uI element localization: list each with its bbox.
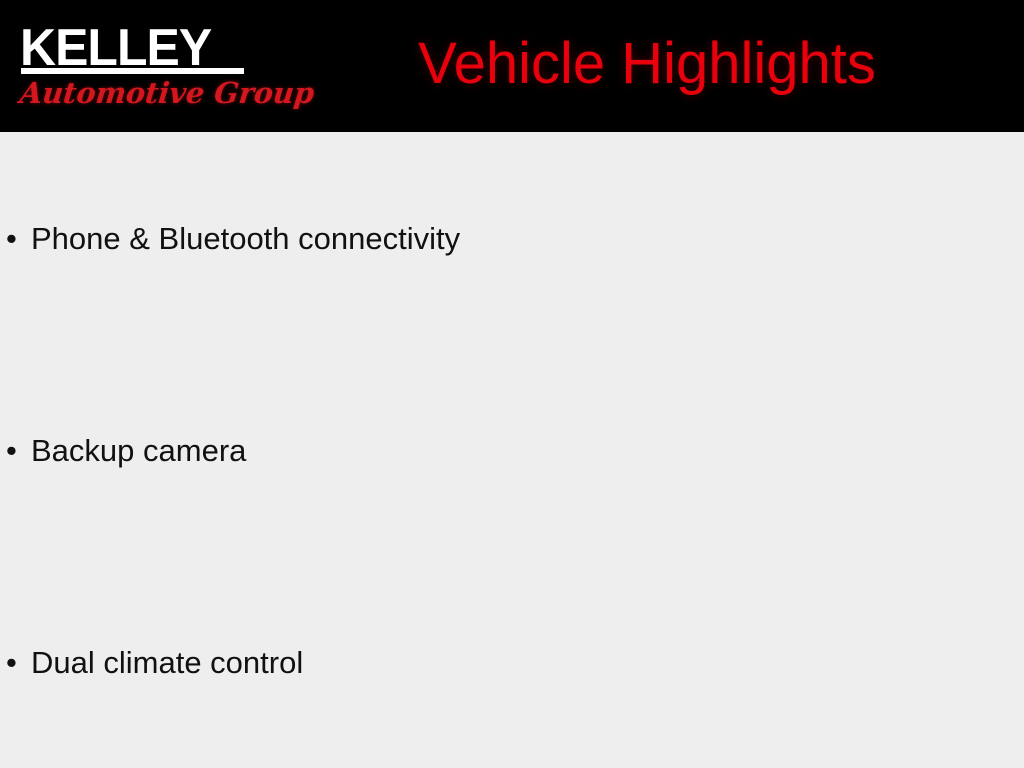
slide-header-bar: KELLEY Automotive Group Vehicle Highligh… [0,0,1024,132]
logo-tagline-text: Automotive Group [18,76,245,110]
logo-divider-rule [21,68,244,74]
list-item-label: Backup camera [31,434,246,468]
presentation-slide: KELLEY Automotive Group Vehicle Highligh… [0,0,1024,768]
list-item-label: Phone & Bluetooth connectivity [31,222,460,256]
slide-body: • Phone & Bluetooth connectivity • Backu… [0,132,1024,768]
slide-title: Vehicle Highlights [290,27,1004,101]
bullet-point-icon: • [6,222,26,256]
logo-wordmark-text: KELLEY [20,22,237,74]
bullet-point-icon: • [6,434,26,468]
list-item-label: Dual climate control [31,646,303,680]
kelley-automotive-group-logo: KELLEY Automotive Group [20,22,246,114]
bullet-point-icon: • [6,646,26,680]
